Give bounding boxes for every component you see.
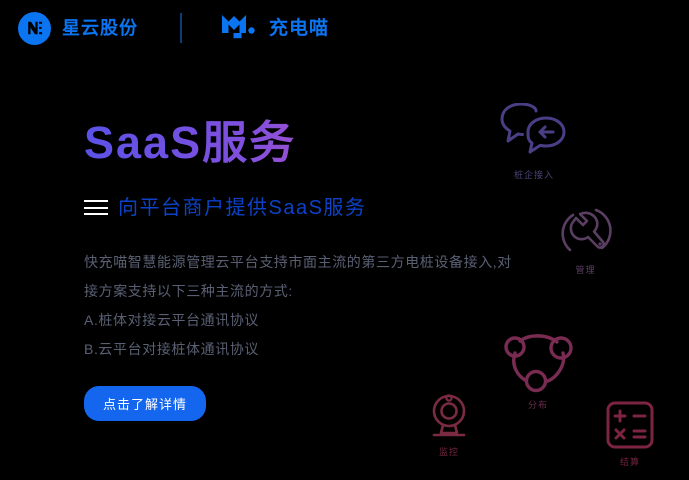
nebula-circle-logo-icon	[18, 12, 51, 45]
hero-body-line: 接方案支持以下三种主流的方式:	[84, 277, 584, 306]
learn-more-button[interactable]: 点击了解详情	[84, 386, 206, 421]
hero-body-line: 快充喵智慧能源管理云平台支持市面主流的第三方电桩设备接入,对	[84, 248, 584, 277]
brand-nebula[interactable]: 星云股份	[18, 12, 138, 45]
hamburger-bar	[84, 200, 108, 202]
brand-chongdianmiao[interactable]: 充电喵	[220, 13, 329, 44]
landing-page: 星云股份 充电喵 桩企接入	[0, 0, 689, 480]
page-title: SaaS服务	[84, 118, 604, 168]
brand-chongdianmiao-label: 充电喵	[269, 19, 329, 38]
hero-body: 快充喵智慧能源管理云平台支持市面主流的第三方电桩设备接入,对 接方案支持以下三种…	[84, 248, 584, 364]
hero-subtitle-row: 向平台商户提供SaaS服务	[84, 198, 604, 218]
hero-section: SaaS服务 向平台商户提供SaaS服务 快充喵智慧能源管理云平台支持市面主流的…	[84, 118, 604, 421]
deco-calculator: 结算	[605, 400, 655, 467]
hero-body-line: B.云平台对接桩体通讯协议	[84, 335, 584, 364]
deco-charging-pile-label: 监控	[439, 448, 459, 457]
hamburger-bar	[84, 207, 108, 209]
hero-body-line: A.桩体对接云平台通讯协议	[84, 306, 584, 335]
hamburger-bar	[84, 213, 108, 215]
page-header: 星云股份 充电喵	[0, 0, 689, 56]
calculator-icon	[605, 400, 655, 455]
brand-nebula-label: 星云股份	[62, 19, 138, 37]
deco-calculator-label: 结算	[620, 458, 640, 467]
cat-face-logo-icon	[220, 13, 260, 44]
hamburger-icon	[84, 200, 108, 215]
hero-subtitle: 向平台商户提供SaaS服务	[118, 198, 366, 218]
header-divider	[180, 13, 182, 43]
